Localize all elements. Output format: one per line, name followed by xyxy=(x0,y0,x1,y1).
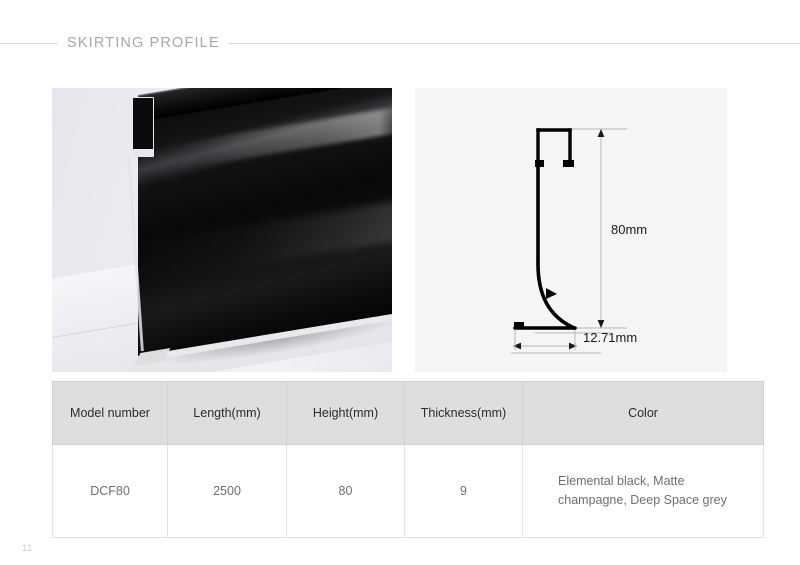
technical-drawing: 80mm 12.71mm xyxy=(415,88,727,372)
column-header-model-number: Model number xyxy=(53,382,168,445)
product-photo xyxy=(52,88,392,372)
profile-channel-tabs xyxy=(535,160,574,167)
page-header: SKIRTING PROFILE xyxy=(0,33,800,53)
page-number: 11 xyxy=(22,543,33,554)
column-header-height: Height(mm) xyxy=(287,382,405,445)
board-channel-lip xyxy=(133,149,153,156)
column-header-color: Color xyxy=(523,382,764,445)
profile-body xyxy=(515,164,575,328)
cell-thickness: 9 xyxy=(405,445,523,538)
column-header-thickness: Thickness(mm) xyxy=(405,382,523,445)
table-row: DCF80 2500 80 9 Elemental black, Matte c… xyxy=(53,445,764,538)
board-end-section xyxy=(132,97,154,355)
depth-label: 12.71mm xyxy=(583,330,637,345)
header-rule-right xyxy=(229,43,800,44)
table-header-row: Model number Length(mm) Height(mm) Thick… xyxy=(53,382,764,445)
cell-height: 80 xyxy=(287,445,405,538)
cell-length: 2500 xyxy=(168,445,287,538)
cell-model-number: DCF80 xyxy=(53,445,168,538)
table-body: DCF80 2500 80 9 Elemental black, Matte c… xyxy=(53,445,764,538)
height-label: 80mm xyxy=(611,222,647,237)
cell-color: Elemental black, Matte champagne, Deep S… xyxy=(523,445,764,538)
cell-color-text: Elemental black, Matte champagne, Deep S… xyxy=(524,472,762,511)
skirting-board-render xyxy=(132,94,392,372)
height-dimension xyxy=(598,129,605,328)
cross-section-svg: 80mm 12.71mm xyxy=(415,88,727,372)
specification-table: Model number Length(mm) Height(mm) Thick… xyxy=(52,381,764,538)
page-title: SKIRTING PROFILE xyxy=(58,36,229,51)
header-rule-left xyxy=(0,43,58,44)
table-header: Model number Length(mm) Height(mm) Thick… xyxy=(53,382,764,445)
profile-outline xyxy=(538,130,570,164)
column-header-length: Length(mm) xyxy=(168,382,287,445)
board-hollow-channel xyxy=(132,97,154,157)
depth-dimension xyxy=(513,328,577,350)
